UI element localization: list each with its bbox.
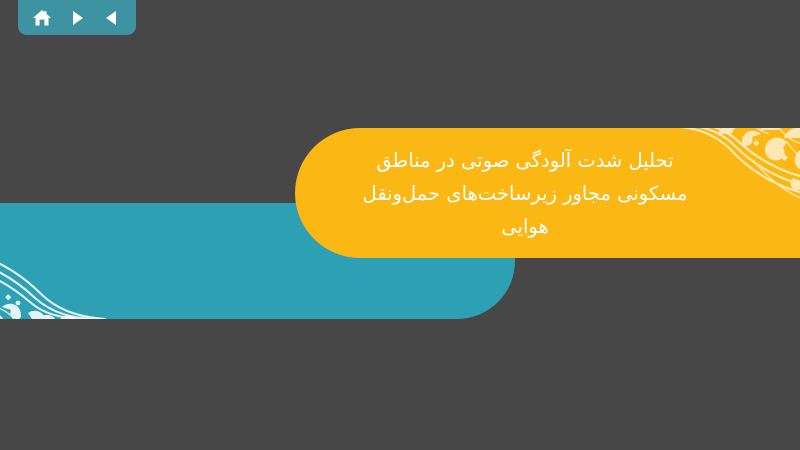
forward-icon: [67, 8, 87, 28]
arabesque-ornament-icon: [0, 203, 175, 319]
yellow-title-panel: [295, 128, 800, 258]
home-icon: [31, 7, 53, 29]
forward-button[interactable]: [64, 5, 90, 31]
navigation-bar: [18, 0, 136, 35]
slide-canvas: تحلیل شدت آلودگی صوتی در مناطق مسکونی مج…: [0, 0, 800, 450]
back-button[interactable]: [99, 5, 125, 31]
back-icon: [102, 8, 122, 28]
home-button[interactable]: [29, 5, 55, 31]
arabesque-ornament-icon: [635, 128, 800, 236]
